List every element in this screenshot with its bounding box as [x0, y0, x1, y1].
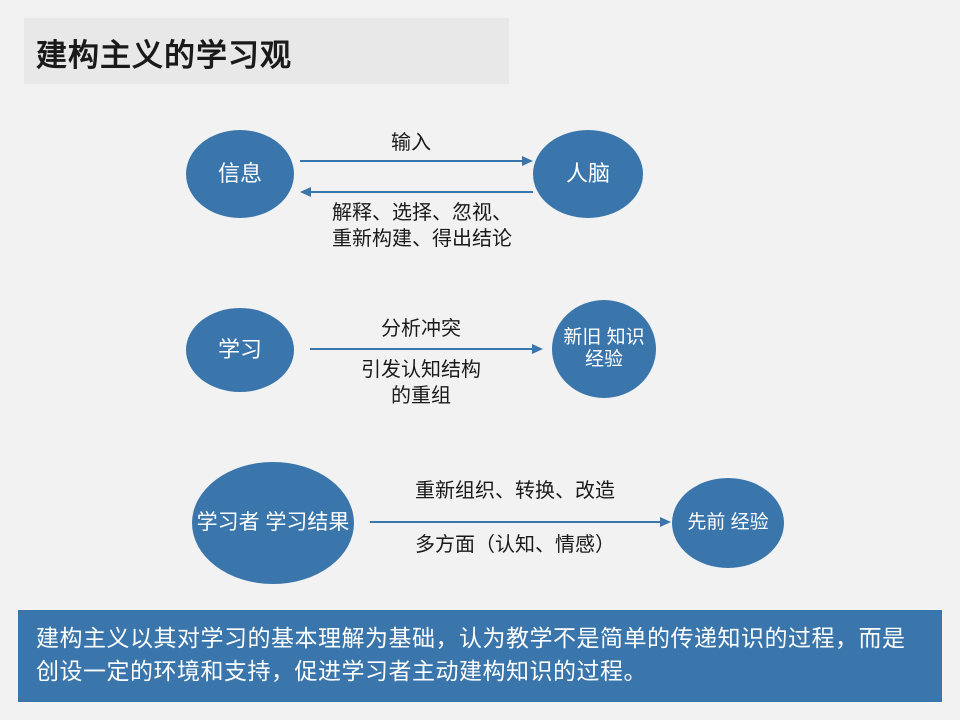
arrow-reorganize-head	[660, 517, 671, 527]
arrow-input-label: 输入	[300, 130, 522, 156]
node-previous: 先前 经验	[672, 478, 784, 568]
arrow-reorganize-label-above: 重新组织、转换、改造	[370, 478, 660, 504]
node-knowledge-label: 新旧 知识 经验	[552, 327, 656, 371]
arrow-feedback-label: 解释、选择、忽视、 重新构建、得出结论	[290, 200, 554, 252]
arrow-feedback-head	[300, 187, 311, 197]
node-learner: 学习者 学习结果	[192, 462, 354, 584]
arrow-input-line	[300, 160, 522, 162]
slide-canvas: 建构主义的学习观 信息 人脑 输入 解释、选择、忽视、 重新构建、得出结论 学习…	[0, 0, 960, 720]
node-study: 学习	[186, 308, 294, 392]
arrow-feedback-line	[311, 191, 533, 193]
node-study-label: 学习	[218, 337, 262, 363]
node-knowledge: 新旧 知识 经验	[552, 300, 656, 398]
summary-banner-text: 建构主义以其对学习的基本理解为基础，认为教学不是简单的传递知识的过程，而是创设一…	[36, 622, 928, 689]
arrow-reorganize-line	[370, 521, 660, 523]
node-learner-label: 学习者 学习结果	[197, 511, 350, 535]
arrow-analyze-line	[310, 348, 532, 350]
node-info: 信息	[186, 130, 294, 218]
arrow-input-head	[522, 156, 533, 166]
node-info-label: 信息	[218, 161, 262, 187]
node-brain-label: 人脑	[566, 161, 610, 187]
arrow-analyze-head	[532, 344, 543, 354]
arrow-analyze-label-above: 分析冲突	[310, 316, 532, 342]
arrow-reorganize-label-below: 多方面（认知、情感）	[370, 532, 660, 558]
node-previous-label: 先前 经验	[687, 512, 768, 534]
page-title: 建构主义的学习观	[36, 30, 292, 75]
arrow-analyze-label-below: 引发认知结构 的重组	[300, 357, 542, 409]
